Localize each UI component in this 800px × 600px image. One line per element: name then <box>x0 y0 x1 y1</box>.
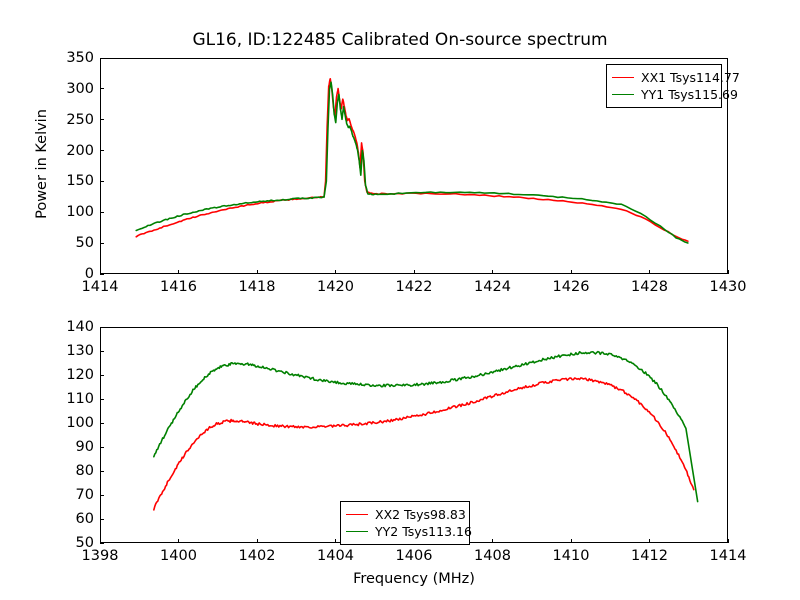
x-tick-label: 1426 <box>553 279 590 295</box>
x-tickmark <box>728 270 729 274</box>
x-tickmark <box>492 539 493 543</box>
x-tick-label: 1414 <box>710 548 747 564</box>
x-tick-label: 1416 <box>160 279 197 295</box>
y-tickmark <box>100 495 104 496</box>
x-tick-label: 1418 <box>239 279 276 295</box>
y-tickmark <box>100 150 104 151</box>
x-tickmark <box>100 270 101 274</box>
y-tick-label: 140 <box>38 319 94 335</box>
y-tick-label: 130 <box>38 343 94 359</box>
x-tickmark <box>257 270 258 274</box>
y-tickmark <box>100 58 104 59</box>
y-tick-label: 120 <box>38 367 94 383</box>
legend-label: YY1 Tsys115.69 <box>641 87 738 103</box>
x-tickmark <box>257 539 258 543</box>
x-tickmark <box>649 539 650 543</box>
legend-color-swatch <box>346 514 368 515</box>
legend-entry: XX1 Tsys114.77 <box>612 69 715 86</box>
x-tickmark <box>492 270 493 274</box>
x-tickmark <box>335 270 336 274</box>
x-tickmark <box>178 270 179 274</box>
y-tick-label: 350 <box>38 50 94 66</box>
bottom-x-axis-title: Frequency (MHz) <box>100 571 728 587</box>
y-tickmark <box>100 447 104 448</box>
x-tick-label: 1404 <box>317 548 354 564</box>
y-tickmark <box>100 119 104 120</box>
y-tickmark <box>100 327 104 328</box>
y-tickmark <box>100 88 104 89</box>
x-tickmark <box>100 539 101 543</box>
x-tick-label: 1428 <box>631 279 668 295</box>
x-tickmark <box>571 539 572 543</box>
x-tick-label: 1410 <box>553 548 590 564</box>
legend-color-swatch <box>612 94 634 95</box>
x-tick-label: 1402 <box>239 548 276 564</box>
y-tickmark <box>100 543 104 544</box>
x-tick-label: 1398 <box>82 548 119 564</box>
page-title: GL16, ID:122485 Calibrated On-source spe… <box>0 30 800 50</box>
y-tickmark <box>100 181 104 182</box>
x-tick-label: 1414 <box>82 279 119 295</box>
y-tick-label: 110 <box>38 391 94 407</box>
x-tickmark <box>571 270 572 274</box>
y-tick-label: 60 <box>38 511 94 527</box>
y-tickmark <box>100 399 104 400</box>
y-tickmark <box>100 375 104 376</box>
y-tick-label: 70 <box>38 487 94 503</box>
y-tickmark <box>100 471 104 472</box>
y-tickmark <box>100 274 104 275</box>
x-tickmark <box>335 539 336 543</box>
series-line <box>154 378 694 510</box>
legend-color-swatch <box>346 531 368 532</box>
y-tickmark <box>100 519 104 520</box>
legend-entry: XX2 Tsys98.83 <box>346 506 463 523</box>
x-tickmark <box>414 270 415 274</box>
legend-entry: YY1 Tsys115.69 <box>612 86 715 103</box>
y-tickmark <box>100 351 104 352</box>
y-tick-label: 100 <box>38 415 94 431</box>
x-tick-label: 1430 <box>710 279 747 295</box>
top-y-axis-title: Power in Kelvin <box>34 84 50 244</box>
x-tick-label: 1424 <box>474 279 511 295</box>
x-tick-label: 1422 <box>396 279 433 295</box>
y-tick-label: 80 <box>38 463 94 479</box>
bottom-plot-legend[interactable]: XX2 Tsys98.83YY2 Tsys113.16 <box>340 501 470 545</box>
x-tick-label: 1420 <box>317 279 354 295</box>
legend-label: XX1 Tsys114.77 <box>641 70 740 86</box>
y-tickmark <box>100 212 104 213</box>
y-tickmark <box>100 243 104 244</box>
series-line <box>154 352 698 502</box>
x-tickmark <box>728 539 729 543</box>
x-tick-label: 1408 <box>474 548 511 564</box>
legend-label: XX2 Tsys98.83 <box>375 507 466 523</box>
top-plot-legend[interactable]: XX1 Tsys114.77YY1 Tsys115.69 <box>606 64 722 108</box>
x-tick-label: 1406 <box>396 548 433 564</box>
y-tickmark <box>100 423 104 424</box>
legend-label: YY2 Tsys113.16 <box>375 524 472 540</box>
y-tick-label: 90 <box>38 439 94 455</box>
x-tick-label: 1412 <box>631 548 668 564</box>
figure-canvas: GL16, ID:122485 Calibrated On-source spe… <box>0 0 800 600</box>
x-tick-label: 1400 <box>160 548 197 564</box>
legend-entry: YY2 Tsys113.16 <box>346 523 463 540</box>
legend-color-swatch <box>612 77 634 78</box>
x-tickmark <box>649 270 650 274</box>
x-tickmark <box>178 539 179 543</box>
